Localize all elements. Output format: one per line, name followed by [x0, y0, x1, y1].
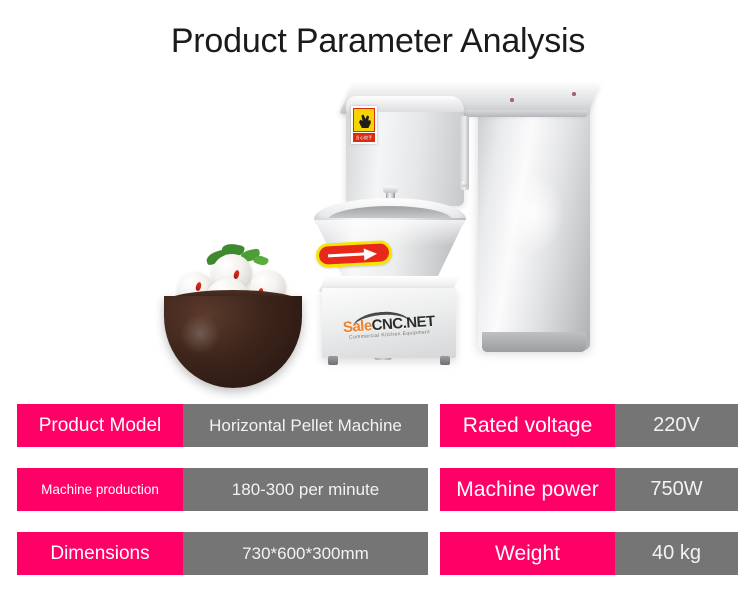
spec-value-machine-power: 750W — [615, 468, 738, 511]
spec-label-machine-power: Machine power — [440, 468, 615, 511]
spec-value-machine-production: 180-300 per minute — [183, 468, 428, 511]
spec-row: Weight 40 kg — [440, 532, 738, 575]
spec-column-right: Rated voltage 220V Machine power 750W We… — [440, 404, 738, 575]
warning-label-icon: 当心绞手 — [351, 106, 377, 144]
spec-label-rated-voltage: Rated voltage — [440, 404, 615, 447]
product-parameter-page: Product Parameter Analysis 当心绞手 — [0, 0, 756, 605]
shaft-collar — [383, 186, 398, 193]
support-knob — [461, 180, 468, 187]
machine-foot — [440, 356, 450, 365]
spec-label-weight: Weight — [440, 532, 615, 575]
spec-row: Machine production 180-300 per minute — [17, 468, 428, 511]
lid-rivet — [510, 98, 514, 102]
page-title: Product Parameter Analysis — [0, 20, 756, 62]
bowl — [164, 296, 302, 388]
pinch-hazard-hand-icon — [359, 114, 372, 128]
machine-body-panel — [478, 92, 590, 350]
bowl-gloss — [180, 314, 220, 354]
spec-value-product-model: Horizontal Pellet Machine — [183, 404, 428, 447]
direction-arrow-decal-icon — [315, 240, 392, 268]
spec-row: Product Model Horizontal Pellet Machine — [17, 404, 428, 447]
spec-label-dimensions: Dimensions — [17, 532, 183, 575]
machine-body-foot — [482, 332, 586, 352]
spec-row: Machine power 750W — [440, 468, 738, 511]
spec-row: Dimensions 730*600*300mm — [17, 532, 428, 575]
warning-triangle-icon — [353, 108, 375, 132]
warning-label-bar: 当心绞手 — [353, 133, 375, 142]
spec-value-weight: 40 kg — [615, 532, 738, 575]
spec-value-dimensions: 730*600*300mm — [183, 532, 428, 575]
spec-row: Rated voltage 220V — [440, 404, 738, 447]
lid-rivet — [572, 92, 576, 96]
warning-label-text: 当心绞手 — [353, 133, 375, 142]
spec-table: Product Model Horizontal Pellet Machine … — [0, 404, 756, 594]
spec-column-left: Product Model Horizontal Pellet Machine … — [17, 404, 428, 575]
spec-label-product-model: Product Model — [17, 404, 183, 447]
fish-ball-bowl-illustration — [158, 240, 308, 388]
machine-foot — [328, 356, 338, 365]
product-hero-image: 当心绞手 SaleCNC.NET Commercial Kitchen Equi… — [0, 62, 756, 392]
spec-value-rated-voltage: 220V — [615, 404, 738, 447]
pellet-machine-illustration: 当心绞手 SaleCNC.NET Commercial Kitchen Equi… — [300, 70, 600, 380]
support-bar — [460, 116, 469, 190]
spec-label-machine-production: Machine production — [17, 468, 183, 511]
